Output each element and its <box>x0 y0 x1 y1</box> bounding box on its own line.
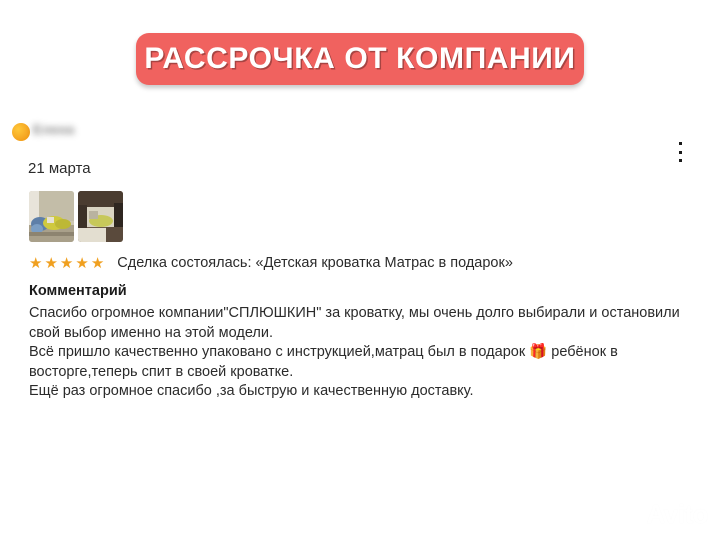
deal-text: Сделка состоялась: «Детская кроватка Мат… <box>117 255 513 271</box>
comment-line: восторге,теперь спит в своей кроватке. <box>29 363 691 383</box>
review-photo-thumbnail[interactable] <box>29 191 74 242</box>
review-card: Елена 21 марта <box>0 118 720 402</box>
avatar <box>12 123 30 141</box>
comment-heading: Комментарий <box>29 283 720 299</box>
star-icon: ★ <box>60 256 73 271</box>
rating-row: ★ ★ ★ ★ ★ Сделка состоялась: «Детская кр… <box>29 255 720 271</box>
star-icon: ★ <box>29 256 42 271</box>
review-date: 21 марта <box>28 160 720 177</box>
star-icon: ★ <box>75 256 88 271</box>
star-icon: ★ <box>91 256 104 271</box>
promo-banner-text: РАССРОЧКА ОТ КОМПАНИИ <box>144 42 575 76</box>
review-header: Елена <box>0 118 720 148</box>
kebab-menu-icon[interactable] <box>672 140 688 164</box>
deal-item-title: «Детская кроватка Матрас в подарок» <box>256 255 513 271</box>
star-icon: ★ <box>44 256 57 271</box>
avito-watermark-text: Avito <box>646 499 708 530</box>
photo-2-image <box>78 191 123 242</box>
review-photo-thumbnail[interactable] <box>78 191 123 242</box>
comment-line: Спасибо огромное компании"СПЛЮШКИН" за к… <box>29 304 691 324</box>
comment-line: Всё пришло качественно упаковано с инстр… <box>29 343 691 363</box>
kebab-dot-3 <box>679 159 682 162</box>
kebab-dot-2 <box>679 151 682 154</box>
comment-line: Ещё раз огромное спасибо ,за быструю и к… <box>29 382 691 402</box>
photo-1-image <box>29 191 74 242</box>
kebab-dot-1 <box>679 142 682 145</box>
comment-body: Спасибо огромное компании"СПЛЮШКИН" за к… <box>29 304 691 402</box>
avito-logo-icon <box>616 503 642 527</box>
review-photos <box>29 191 720 242</box>
promo-banner: РАССРОЧКА ОТ КОМПАНИИ <box>136 33 584 85</box>
avito-watermark: Avito <box>616 499 708 530</box>
comment-line: свой выбор именно на этой модели. <box>29 324 691 344</box>
author-name: Елена <box>32 122 76 137</box>
deal-status-label: Сделка состоялась: <box>117 255 251 271</box>
